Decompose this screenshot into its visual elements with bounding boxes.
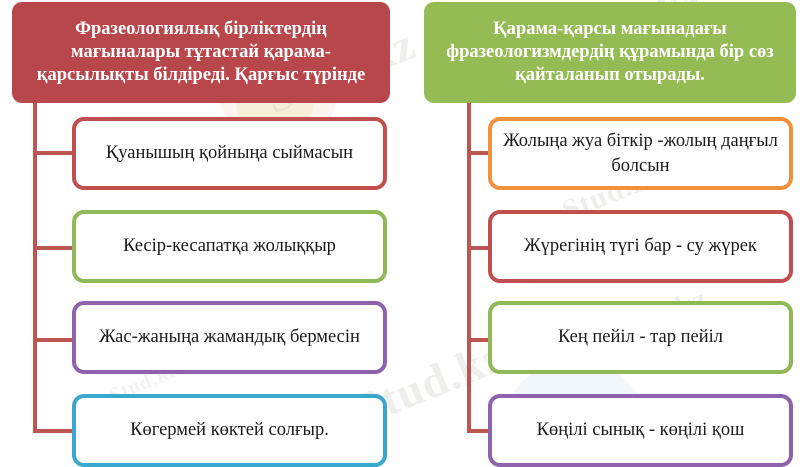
item-box-right-3[interactable]: Кең пейіл - тар пейіл <box>488 301 793 374</box>
item-box-left-4[interactable]: Көгермей көктей солғыр. <box>72 394 387 467</box>
column-right: Қарама-қарсы мағынадағы фразеологизмдерд… <box>420 0 800 467</box>
connector-branch-left-4 <box>33 429 75 433</box>
column-left: Фразеологиялық бірліктердің мағыналары т… <box>0 0 400 467</box>
header-right: Қарама-қарсы мағынадағы фразеологизмдерд… <box>424 2 796 103</box>
diagram-canvas: Stud.kz Stud.kz Stud.kz Stud.kz Stud.kz … <box>0 0 800 467</box>
connector-branch-left-2 <box>33 246 75 250</box>
item-box-right-2[interactable]: Жүрегінің түгі бар - су жүрек <box>488 210 793 283</box>
connector-branch-left-1 <box>33 151 75 155</box>
item-box-left-3[interactable]: Жас-жаныңа жамандық бермесін <box>72 301 387 374</box>
item-box-left-2[interactable]: Кесір-кесапатқа жолыққыр <box>72 210 387 283</box>
item-box-right-4[interactable]: Көңілі сынық - көңілі қош <box>488 394 793 467</box>
item-box-right-1[interactable]: Жолыңа жуа біткір -жолың даңғыл болсын <box>488 117 793 190</box>
connector-branch-left-3 <box>33 338 75 342</box>
header-left: Фразеологиялық бірліктердің мағыналары т… <box>12 2 390 103</box>
item-box-left-1[interactable]: Қуанышың қойныңа сыймасын <box>72 117 387 190</box>
